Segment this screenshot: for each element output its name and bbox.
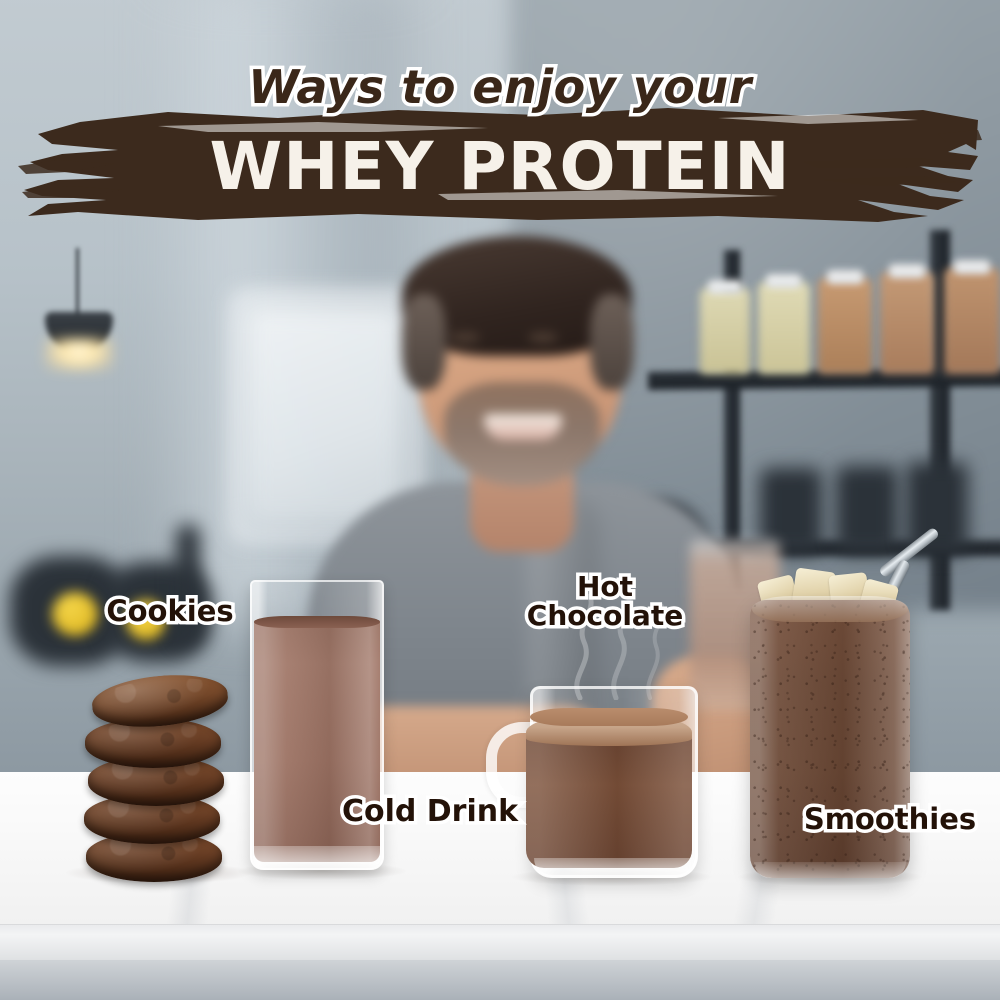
foam-surface bbox=[530, 708, 688, 726]
page-subtitle: Ways to enjoy your bbox=[0, 60, 1000, 114]
smoothie-texture bbox=[750, 600, 910, 878]
glass-base bbox=[253, 846, 381, 870]
smoothie-base bbox=[754, 862, 906, 878]
smoothie-rim bbox=[752, 596, 908, 622]
page-title: WHEY PROTEIN bbox=[0, 128, 1000, 205]
smoothie-glass bbox=[750, 600, 910, 878]
mug-base bbox=[534, 858, 694, 878]
label-hot-chocolate: Hot Chocolate bbox=[505, 572, 705, 630]
metal-straw-upper bbox=[878, 527, 940, 579]
cookie-stack bbox=[82, 672, 232, 882]
cookie bbox=[90, 670, 230, 733]
label-smoothies: Smoothies bbox=[790, 804, 990, 834]
smoothie-body bbox=[750, 600, 910, 878]
hot-chocolate-mug bbox=[520, 686, 698, 878]
label-cold-drink: Cold Drink bbox=[320, 796, 540, 827]
header-banner: Ways to enjoy your WHEY PROTEIN bbox=[0, 0, 1000, 240]
poster: Cookies Cold Drink Hot Chocolate Smoothi… bbox=[0, 0, 1000, 1000]
label-cookies: Cookies bbox=[60, 596, 280, 626]
hot-chocolate-liquid bbox=[526, 734, 692, 868]
